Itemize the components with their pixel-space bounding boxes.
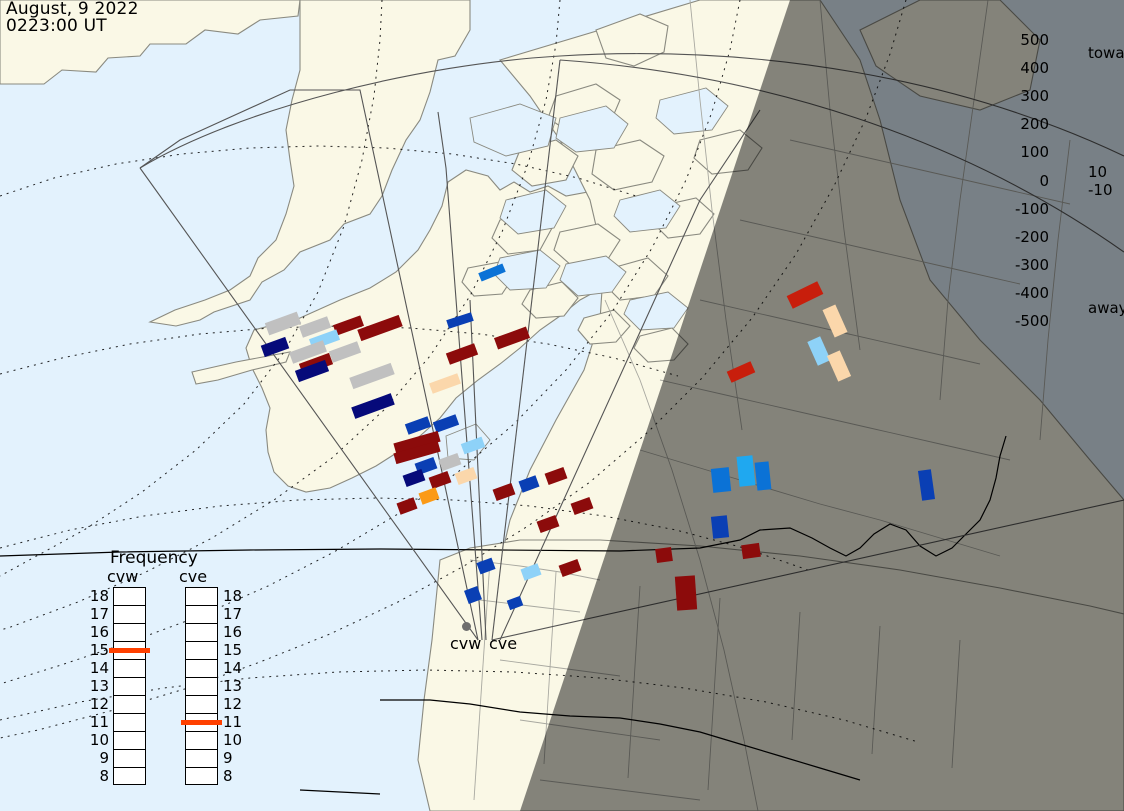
- velocity-cell: [675, 575, 697, 610]
- colorbar-tick-label: -500: [1015, 312, 1049, 330]
- frequency-tick-label: 17: [223, 605, 242, 623]
- radar-label-cve: cve: [489, 634, 517, 653]
- velocity-cell: [429, 471, 452, 489]
- frequency-radar-name-cvw: cvw: [107, 567, 138, 586]
- frequency-tick-label: 16: [223, 623, 242, 641]
- velocity-cell: [787, 281, 824, 308]
- velocity-cell: [446, 312, 474, 329]
- velocity-cell: [261, 337, 290, 357]
- velocity-cell: [403, 469, 426, 487]
- timestamp: August, 9 20220223:00 UT: [6, 1, 139, 35]
- frequency-gridline: [186, 642, 217, 660]
- colorbar-toward-label: toward: [1088, 44, 1124, 62]
- velocity-cell: [405, 416, 431, 435]
- velocity-cell: [918, 469, 935, 501]
- velocity-cell: [711, 467, 731, 493]
- frequency-tick-label: 8: [85, 767, 109, 785]
- frequency-tick-label: 11: [223, 713, 242, 731]
- frequency-gridline: [186, 606, 217, 624]
- colorbar-tick-label: -300: [1015, 256, 1049, 274]
- frequency-gridline: [114, 714, 145, 732]
- ground-scatter-cell: [349, 363, 394, 389]
- frequency-tick-label: 15: [85, 641, 109, 659]
- frequency-tick-label: 8: [223, 767, 233, 785]
- velocity-cell: [520, 563, 541, 580]
- frequency-gridline: [114, 750, 145, 768]
- velocity-colorbar-legend: Velocity (m/s) 5004003002001000-100-200-…: [975, 0, 1124, 340]
- frequency-tick-label: 12: [85, 695, 109, 713]
- velocity-cell: [461, 437, 485, 455]
- colorbar-tick-label: 100: [1020, 143, 1049, 161]
- frequency-tick-label: 13: [223, 677, 242, 695]
- frequency-tick-label: 14: [223, 659, 242, 677]
- velocity-cell: [559, 559, 582, 577]
- frequency-tick-label: 16: [85, 623, 109, 641]
- velocity-cell: [493, 483, 516, 501]
- frequency-gridline: [114, 732, 145, 750]
- frequency-tick-label: 15: [223, 641, 242, 659]
- frequency-scale-cve: [185, 587, 218, 785]
- velocity-cell: [711, 515, 729, 539]
- velocity-cell: [351, 393, 395, 419]
- frequency-tick-label: 11: [85, 713, 109, 731]
- velocity-cell: [727, 361, 756, 383]
- frequency-tick-label: 17: [85, 605, 109, 623]
- velocity-cell: [476, 558, 495, 575]
- frequency-gridline: [186, 588, 217, 606]
- colorbar-threshold-negative: -10: [1088, 181, 1113, 199]
- frequency-gridline: [186, 696, 217, 714]
- frequency-gridline: [186, 660, 217, 678]
- colorbar-tick-label: -400: [1015, 284, 1049, 302]
- frequency-tick-label: 9: [85, 749, 109, 767]
- velocity-cell: [807, 336, 830, 365]
- ground-scatter-cell: [439, 453, 462, 471]
- frequency-panel: Frequency cvw18171615141312111098cve1817…: [85, 545, 250, 790]
- frequency-gridline: [114, 624, 145, 642]
- frequency-gridline: [114, 696, 145, 714]
- colorbar-tick-label: 400: [1020, 59, 1049, 77]
- velocity-cell: [741, 543, 761, 559]
- frequency-gridline: [186, 732, 217, 750]
- frequency-gridline: [186, 678, 217, 696]
- frequency-tick-label: 12: [223, 695, 242, 713]
- velocity-cell: [446, 343, 478, 365]
- velocity-cell: [418, 487, 439, 504]
- colorbar-tick-label: 300: [1020, 87, 1049, 105]
- radar-label-cvw: cvw: [450, 634, 481, 653]
- frequency-tick-label: 14: [85, 659, 109, 677]
- frequency-title: Frequency: [110, 548, 198, 568]
- radar-site-marker: [462, 622, 471, 631]
- colorbar-tick-label: 0: [1039, 172, 1049, 190]
- velocity-cell: [396, 497, 417, 514]
- frequency-gridline: [186, 750, 217, 768]
- velocity-cell: [827, 350, 851, 381]
- frequency-marker-cvw: [109, 648, 150, 653]
- frequency-marker-cve: [181, 720, 222, 725]
- frequency-gridline: [114, 678, 145, 696]
- radar-map-figure: August, 9 20220223:00 UT cvw cve Velocit…: [0, 0, 1124, 811]
- velocity-cell: [755, 461, 772, 490]
- timestamp-time: 0223:00 UT: [6, 16, 107, 36]
- frequency-tick-label: 18: [85, 587, 109, 605]
- velocity-cell: [823, 304, 848, 337]
- velocity-cell: [455, 467, 478, 485]
- velocity-cell: [736, 455, 755, 487]
- velocity-cell: [357, 315, 402, 341]
- velocity-cell: [537, 515, 560, 533]
- velocity-cell: [571, 497, 594, 515]
- colorbar-tick-label: -200: [1015, 228, 1049, 246]
- velocity-cell: [429, 373, 461, 394]
- velocity-cell: [518, 475, 539, 492]
- velocity-cell: [464, 586, 482, 604]
- frequency-gridline: [114, 588, 145, 606]
- colorbar-tick-label: 200: [1020, 115, 1049, 133]
- velocity-cell: [478, 263, 505, 281]
- velocity-cell: [545, 467, 568, 485]
- colorbar-away-label: away: [1088, 299, 1124, 317]
- colorbar-tick-label: -100: [1015, 200, 1049, 218]
- velocity-cell: [507, 596, 524, 610]
- velocity-cell: [494, 327, 530, 350]
- velocity-cell: [655, 547, 673, 563]
- frequency-gridline: [114, 660, 145, 678]
- ground-scatter-cell: [329, 341, 361, 363]
- frequency-radar-name-cve: cve: [179, 567, 207, 586]
- colorbar-tick-label: 500: [1020, 31, 1049, 49]
- frequency-tick-label: 10: [85, 731, 109, 749]
- frequency-tick-label: 13: [85, 677, 109, 695]
- frequency-scale-cvw: [113, 587, 146, 785]
- frequency-gridline: [114, 606, 145, 624]
- frequency-tick-label: 10: [223, 731, 242, 749]
- frequency-gridline: [186, 624, 217, 642]
- frequency-tick-label: 18: [223, 587, 242, 605]
- ground-scatter-cell: [265, 312, 301, 336]
- frequency-tick-label: 9: [223, 749, 233, 767]
- colorbar-threshold-positive: 10: [1088, 163, 1107, 181]
